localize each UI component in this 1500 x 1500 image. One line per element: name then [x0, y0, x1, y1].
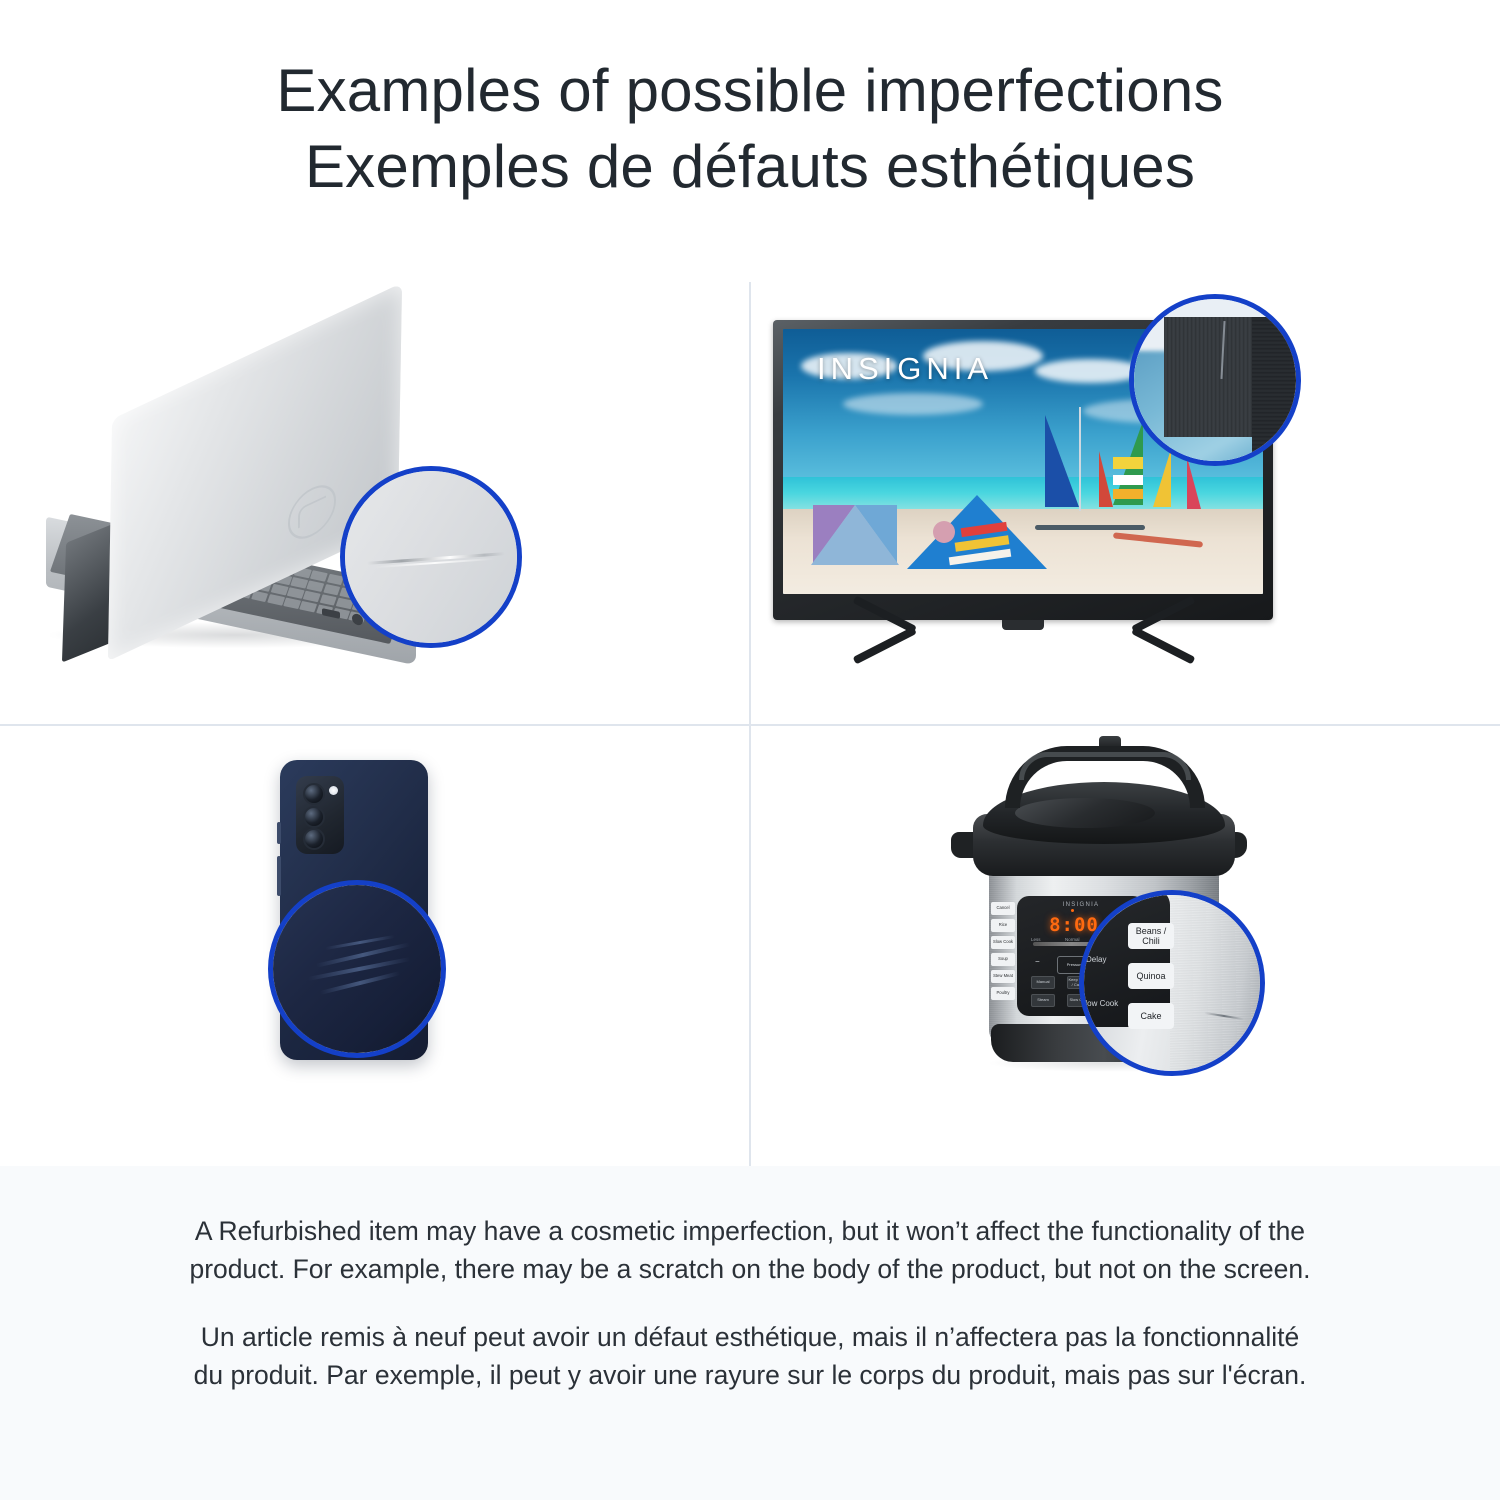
page-title-fr: Exemples de défauts esthétiques	[305, 129, 1195, 205]
tv-zoom-bezel-side	[1252, 317, 1296, 466]
sailboat-red	[1187, 457, 1201, 509]
cooker-handle-highlight	[1019, 752, 1191, 780]
camera-flash-icon	[329, 786, 338, 795]
cooker-status-indicator	[1071, 909, 1074, 912]
laptop-image	[40, 342, 460, 672]
cooker-zoom-button-beans-chili[interactable]: Beans / Chili	[1128, 923, 1174, 949]
smartphone-image	[220, 748, 520, 1148]
page-title-en: Examples of possible imperfections	[276, 53, 1223, 129]
tv-imperfection-example: INSIGNIA	[751, 282, 1500, 724]
examples-grid: INSIGNIA	[0, 282, 1500, 1166]
cooker-zoom-label-delay: Delay	[1086, 955, 1106, 964]
tv-leg-left-back	[853, 626, 917, 664]
tv-brand-logo: INSIGNIA	[817, 351, 993, 387]
tv-leg-right-front	[1131, 626, 1195, 664]
cooker-magnifier-circle: Delay Slow Cook Beans / Chili Quinoa Cak…	[1079, 890, 1265, 1076]
tv-magnifier-circle	[1129, 294, 1301, 466]
camera-module	[296, 776, 344, 854]
description-paragraph-fr: Un article remis à neuf peut avoir un dé…	[185, 1318, 1315, 1394]
cooker-imperfection-example: INSIGNIA 8:00 Less Normal More Pressure …	[751, 726, 1500, 1168]
laptop-magnifier-circle	[340, 466, 522, 648]
camera-lens-icon	[303, 828, 325, 850]
phone-volume-button	[277, 822, 281, 844]
camera-lens-icon	[303, 806, 325, 828]
cooker-button-stew-meat[interactable]: Stew Meat	[991, 970, 1015, 983]
slider-label-normal: Normal	[1065, 937, 1080, 942]
cooker-button-steam[interactable]: Steam	[1031, 994, 1055, 1007]
cooker-button-cancel[interactable]: Cancel	[991, 902, 1015, 915]
sailboat-orange-band	[1113, 489, 1143, 499]
cooker-zoom-label-slow-cook: Slow Cook	[1080, 999, 1118, 1008]
cooker-button-slow-cook-left[interactable]: Slow Cook	[991, 936, 1015, 949]
sailboat-blue	[1045, 415, 1079, 507]
cooker-left-button-column[interactable]: Cancel Rice Slow Cook Soup Stew Meat Pou…	[991, 902, 1015, 1000]
sailboat-white-band	[1113, 475, 1143, 485]
boat-hull-dark	[1035, 525, 1145, 530]
beach-tent-left-shape	[811, 505, 899, 565]
tv-ir-sensor	[1002, 620, 1044, 630]
refurbished-imperfections-infographic: Examples of possible imperfections Exemp…	[0, 0, 1500, 1500]
laptop-imperfection-example	[0, 282, 749, 724]
phone-imperfection-example	[0, 726, 749, 1168]
cooker-zoom-button-quinoa[interactable]: Quinoa	[1128, 963, 1174, 989]
cooker-zoom-brushed-texture	[1170, 895, 1260, 1071]
cooker-zoom-button-cake[interactable]: Cake	[1128, 1003, 1174, 1029]
header: Examples of possible imperfections Exemp…	[0, 0, 1500, 258]
description-paragraph-en: A Refurbished item may have a cosmetic i…	[185, 1212, 1315, 1288]
footer-description: A Refurbished item may have a cosmetic i…	[0, 1166, 1500, 1500]
camera-lens-icon	[303, 783, 325, 805]
pressure-cooker-image: INSIGNIA 8:00 Less Normal More Pressure …	[931, 736, 1291, 1136]
cooker-button-soup[interactable]: Soup	[991, 953, 1015, 966]
sailboat-red2	[1099, 451, 1113, 507]
phone-magnifier-circle	[268, 880, 446, 1058]
sailboat-mast	[1079, 407, 1081, 511]
cooker-button-manual[interactable]: Manual	[1031, 976, 1055, 989]
cooker-button-rice[interactable]: Rice	[991, 919, 1015, 932]
cooker-button-poultry[interactable]: Poultry	[991, 987, 1015, 1000]
tent-emblem	[933, 521, 955, 543]
cloud-shape	[843, 393, 983, 415]
slider-label-less: Less	[1031, 937, 1041, 942]
television-image: INSIGNIA	[761, 302, 1281, 672]
